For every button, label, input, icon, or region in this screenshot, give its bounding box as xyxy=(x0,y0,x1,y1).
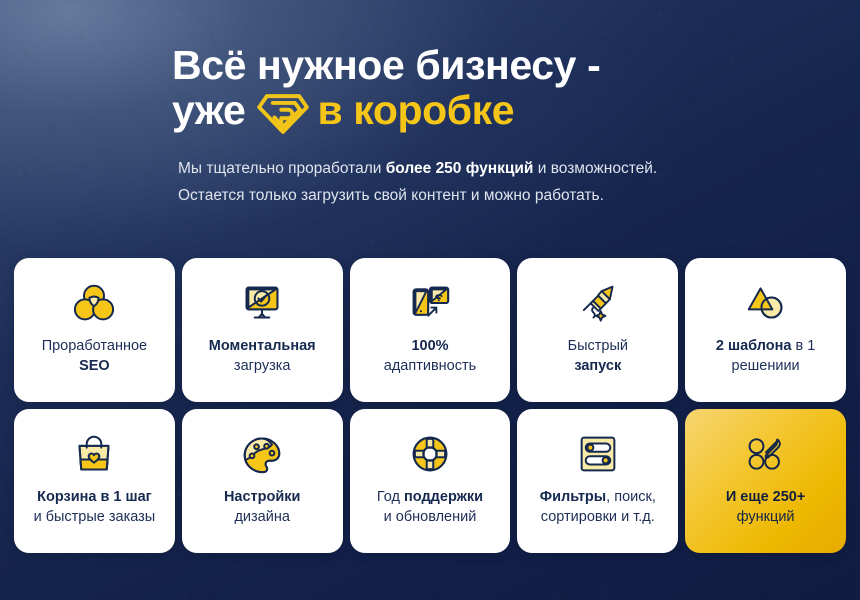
feature-card-label: Быстрыйзапуск xyxy=(568,337,628,376)
palette-icon xyxy=(240,431,284,477)
feature-card-line1: Быстрый xyxy=(568,338,628,354)
feature-card-line2: решениии xyxy=(732,358,800,374)
shopping-bag-heart-icon xyxy=(72,431,116,477)
feature-card-line2: и обновлений xyxy=(384,509,477,525)
headline-text-accent: в коробке xyxy=(317,89,514,133)
feature-card-line1: Фильтры xyxy=(540,489,606,505)
feature-card-line2: дизайна xyxy=(234,509,289,525)
headline-text-line1: Всё нужное бизнесу - xyxy=(172,44,600,88)
feature-card-label: Фильтры, поиск,сортировки и т.д. xyxy=(540,488,656,527)
venn-circles-icon xyxy=(72,280,116,326)
toggles-filter-icon xyxy=(576,431,620,477)
feature-card-label: Год поддержкии обновлений xyxy=(377,488,483,527)
hero-subtitle: Мы тщательно проработали более 250 функц… xyxy=(178,156,678,209)
feature-card-line2: и быстрые заказы xyxy=(34,509,156,525)
more-shapes-icon xyxy=(745,431,787,477)
feature-card-line1: Корзина в 1 шаг xyxy=(37,489,152,505)
monitor-check-icon xyxy=(240,280,284,326)
feature-card[interactable]: И еще 250+функций xyxy=(685,409,846,553)
feature-card-label: 2 шаблона в 1решениии xyxy=(716,337,815,376)
headline-text-uzhe: уже xyxy=(172,89,245,133)
feature-card-line1: Настройки xyxy=(224,489,301,505)
feature-card[interactable]: 100%адаптивность xyxy=(350,258,511,402)
feature-card-label: И еще 250+функций xyxy=(726,488,806,527)
feature-card[interactable]: Год поддержкии обновлений xyxy=(350,409,511,553)
headline-line-2: уже в коробке xyxy=(172,88,692,134)
feature-card-grid: ПроработанноеSEO Моментальнаязагрузка 10… xyxy=(14,258,846,553)
feature-card-line1: поддержки xyxy=(404,489,483,505)
feature-card[interactable]: Моментальнаязагрузка xyxy=(182,258,343,402)
feature-card-line2: загрузка xyxy=(234,358,291,374)
lifebuoy-icon xyxy=(408,431,452,477)
headline-line-1: Всё нужное бизнесу - xyxy=(172,44,692,88)
feature-card-label: Настройкидизайна xyxy=(224,488,301,527)
feature-card-label: 100%адаптивность xyxy=(384,337,476,376)
feature-card-line1_tail: в 1 xyxy=(791,338,815,354)
landing-page: Всё нужное бизнесу - уже в коробке xyxy=(0,0,860,600)
page-title: Всё нужное бизнесу - уже в коробке xyxy=(172,44,692,134)
subtitle-bold-count: более 250 функций xyxy=(386,160,534,177)
feature-card-line1: Проработанное xyxy=(42,338,147,354)
feature-card[interactable]: ПроработанноеSEO xyxy=(14,258,175,402)
feature-card-line2: SEO xyxy=(79,358,110,374)
responsive-devices-icon xyxy=(408,280,452,326)
feature-card-line1: 100% xyxy=(411,338,448,354)
feature-card-line2: функций xyxy=(737,509,795,525)
feature-card-line2: запуск xyxy=(574,358,621,374)
feature-card-line1_head: Год xyxy=(377,489,404,505)
feature-card-line1: 2 шаблона xyxy=(716,338,792,354)
feature-card-line2: адаптивность xyxy=(384,358,476,374)
feature-card-label: Моментальнаязагрузка xyxy=(209,337,316,376)
subtitle-part-1: Мы тщательно проработали xyxy=(178,160,386,177)
feature-card-line1_tail: , поиск, xyxy=(606,489,656,505)
shapes-overlap-icon xyxy=(744,280,788,326)
feature-card-label: ПроработанноеSEO xyxy=(42,337,147,376)
feature-card[interactable]: Быстрыйзапуск xyxy=(517,258,678,402)
feature-card-line1: Моментальная xyxy=(209,338,316,354)
feature-card[interactable]: Корзина в 1 шаги быстрые заказы xyxy=(14,409,175,553)
gem-diamond-logo-icon xyxy=(255,91,311,137)
feature-card-line2: сортировки и т.д. xyxy=(541,509,655,525)
feature-card[interactable]: Настройкидизайна xyxy=(182,409,343,553)
feature-card-label: Корзина в 1 шаги быстрые заказы xyxy=(34,488,156,527)
feature-card-line1: И еще 250+ xyxy=(726,489,806,505)
hero-section: Всё нужное бизнесу - уже в коробке xyxy=(0,0,860,209)
feature-card[interactable]: 2 шаблона в 1решениии xyxy=(685,258,846,402)
feature-card[interactable]: Фильтры, поиск,сортировки и т.д. xyxy=(517,409,678,553)
firework-rocket-icon xyxy=(576,280,620,326)
